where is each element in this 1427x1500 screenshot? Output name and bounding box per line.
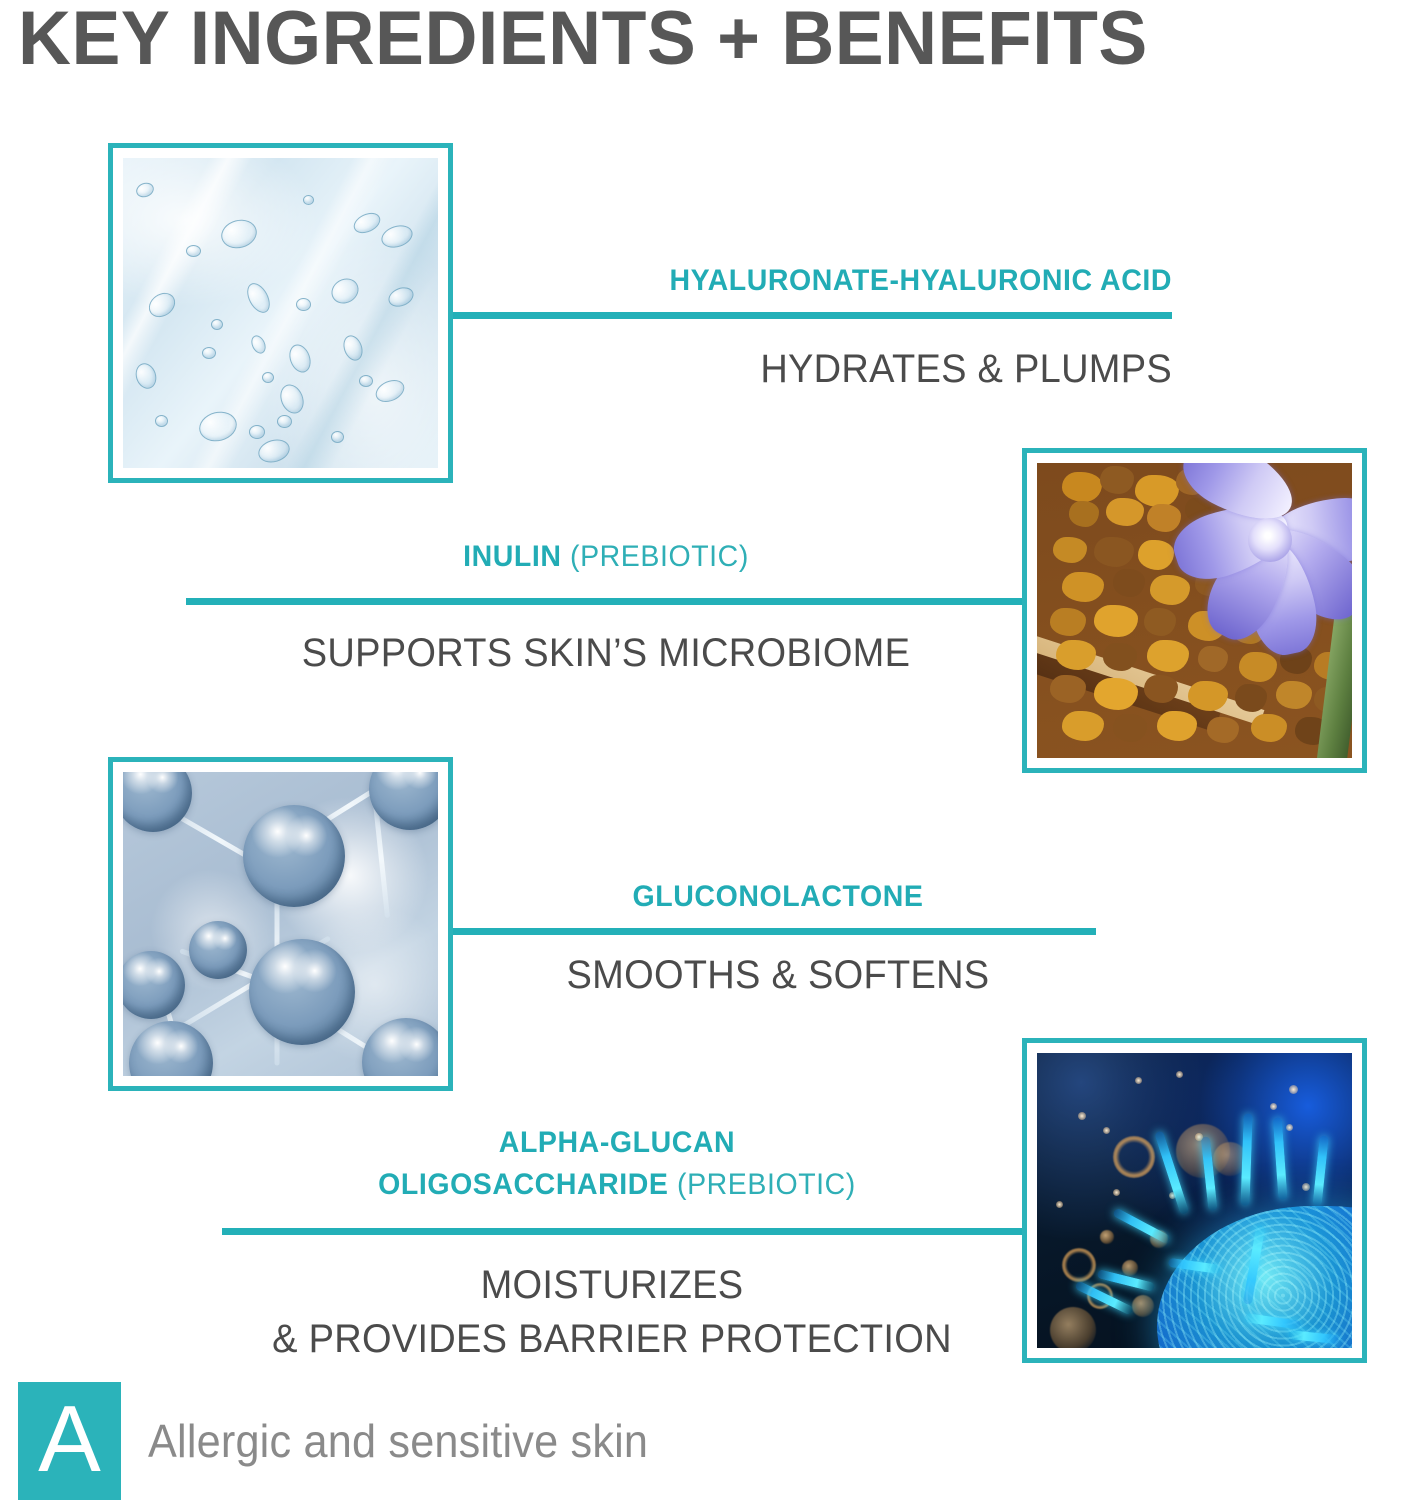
- ingredient-name-hyaluronate: HYALURONATE-HYALURONIC ACID: [507, 264, 1172, 298]
- ingredient-name-text-line1: ALPHA-GLUCAN: [499, 1126, 735, 1159]
- ingredient-benefit-line-2: & PROVIDES BARRIER PROTECTION: [232, 1312, 992, 1366]
- ingredient-benefit-hyaluronate: HYDRATES & PLUMPS: [507, 344, 1172, 394]
- molecule-artwork: [123, 772, 438, 1076]
- ingredient-name-alpha-glucan: ALPHA-GLUCAN OLIGOSACCHARIDE (PREBIOTIC): [242, 1122, 993, 1206]
- connector-rule-hyaluronate: [448, 312, 1172, 319]
- allergy-badge-label: Allergic and sensitive skin: [148, 1414, 648, 1468]
- ingredient-qualifier-text: (PREBIOTIC): [677, 1168, 856, 1201]
- ingredient-benefit-alpha-glucan: MOISTURIZES & PROVIDES BARRIER PROTECTIO…: [232, 1258, 992, 1366]
- microbe-artwork: [1037, 1053, 1352, 1348]
- ingredient-name-inulin: INULIN (PREBIOTIC): [220, 540, 991, 574]
- ingredient-benefit-text-line1: MOISTURIZES: [481, 1263, 744, 1307]
- ingredient-image-inulin: [1022, 448, 1367, 773]
- allergy-badge-letter: A: [18, 1392, 121, 1486]
- connector-rule-alpha-glucan: [222, 1228, 1026, 1235]
- ingredient-name-text: HYALURONATE-HYALURONIC ACID: [669, 264, 1172, 297]
- molecule-structure-illustration: [123, 772, 438, 1076]
- microbe-cell-glowing-blue-photo: [1037, 1053, 1352, 1348]
- ingredient-qualifier-text: (PREBIOTIC): [570, 540, 749, 573]
- ingredient-benefit-gluconolactone: SMOOTHS & SOFTENS: [476, 950, 1080, 1000]
- gel-texture-artwork: [123, 158, 438, 468]
- ingredient-benefit-inulin: SUPPORTS SKIN’S MICROBIOME: [220, 628, 991, 678]
- ingredient-name-text: GLUCONOLACTONE: [633, 880, 924, 913]
- connector-rule-gluconolactone: [448, 928, 1096, 935]
- ingredient-image-hyaluronate: [108, 143, 453, 483]
- ingredient-name-text-line2: OLIGOSACCHARIDE: [378, 1168, 668, 1201]
- connector-rule-inulin: [186, 598, 1026, 605]
- ingredient-name-gluconolactone: GLUCONOLACTONE: [476, 880, 1080, 914]
- ingredient-name-line-1: ALPHA-GLUCAN: [242, 1122, 993, 1164]
- ingredient-image-alpha-glucan: [1022, 1038, 1367, 1363]
- ingredient-name-text: INULIN: [463, 540, 561, 573]
- ingredient-benefit-line-1: MOISTURIZES: [232, 1258, 992, 1312]
- chicory-root-granules-and-flower-photo: [1037, 463, 1352, 758]
- allergy-badge: A: [18, 1382, 121, 1500]
- ingredient-image-gluconolactone: [108, 757, 453, 1091]
- hyaluronic-gel-texture-photo: [123, 158, 438, 468]
- granules-artwork: [1037, 463, 1352, 758]
- page-title: KEY INGREDIENTS + BENEFITS: [18, 0, 1369, 84]
- ingredient-benefit-text-line2: & PROVIDES BARRIER PROTECTION: [272, 1317, 952, 1361]
- ingredient-benefit-text: SMOOTHS & SOFTENS: [567, 953, 990, 997]
- ingredient-benefit-text: SUPPORTS SKIN’S MICROBIOME: [302, 631, 910, 675]
- ingredient-name-line-2: OLIGOSACCHARIDE (PREBIOTIC): [242, 1164, 993, 1206]
- ingredient-benefit-text: HYDRATES & PLUMPS: [760, 347, 1172, 391]
